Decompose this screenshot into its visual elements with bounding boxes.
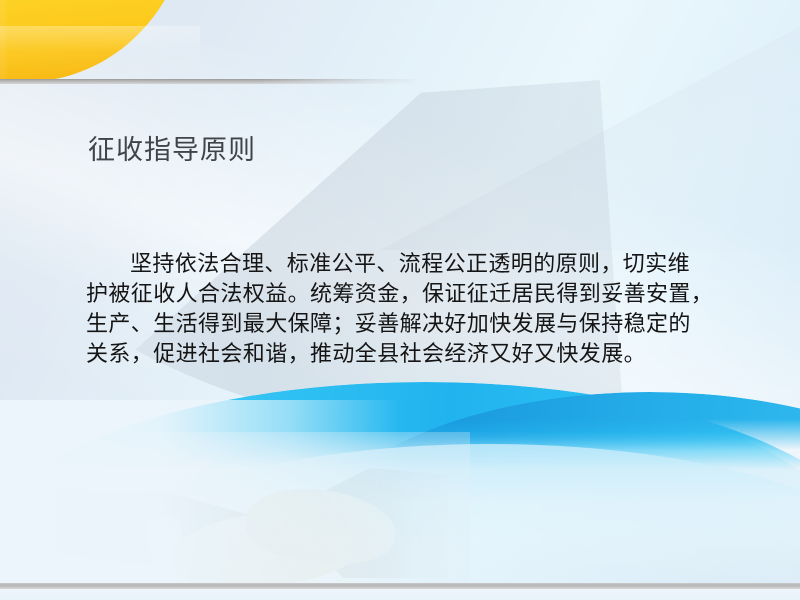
slide-body-text: 坚持依法合理、标准公平、流程公正透明的原则，切实维 护被征收人合法权益。统筹资金… <box>86 250 698 370</box>
orange-arc-stripes <box>0 0 190 82</box>
body-line: 坚持依法合理、标准公平、流程公正透明的原则，切实维 <box>86 250 698 280</box>
page-title: 征收指导原则 <box>88 134 256 168</box>
body-line: 关系，促进社会和谐，推动全县社会经济又好又快发展。 <box>86 340 698 370</box>
orange-arc-decor <box>0 0 200 82</box>
body-line: 护被征收人合法权益。统筹资金，保证征迁居民得到妥善安置， <box>86 280 698 310</box>
bottom-strip <box>0 589 800 600</box>
orange-arc-shape <box>0 0 190 82</box>
body-line: 生产、生活得到最大保障；妥善解决好加快发展与保持稳定的 <box>86 310 698 340</box>
handshake-photo-fade <box>0 432 470 600</box>
presentation-slide: 征收指导原则 坚持依法合理、标准公平、流程公正透明的原则，切实维 护被征收人合法… <box>0 0 800 600</box>
handshake-photo <box>0 432 470 600</box>
top-divider-rule <box>0 79 420 84</box>
